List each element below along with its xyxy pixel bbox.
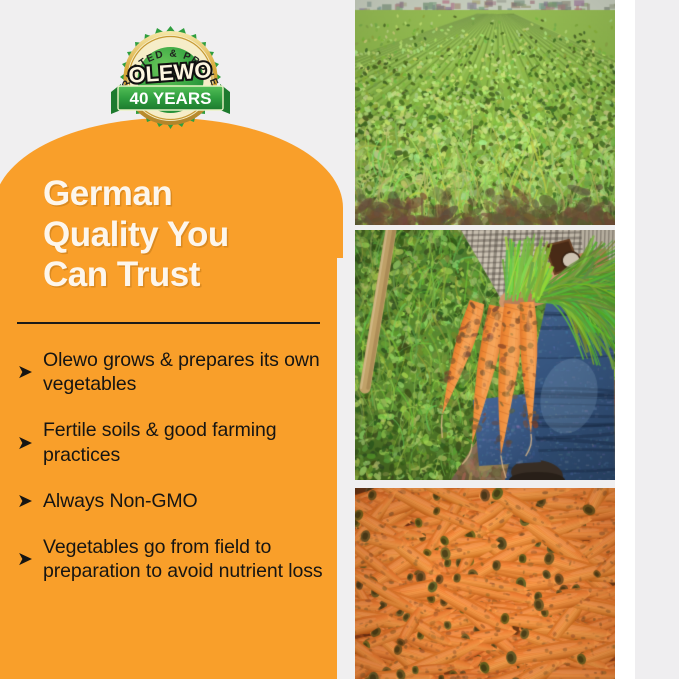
photo-column [355, 0, 615, 679]
section-divider [17, 322, 320, 324]
infographic-canvas: TRUSTED & PROVEN ★ ★ OLEWO 40 YEARS Germ… [0, 0, 679, 679]
olewo-trust-seal: TRUSTED & PROVEN ★ ★ OLEWO 40 YEARS [105, 22, 236, 142]
seal-icon: TRUSTED & PROVEN ★ ★ OLEWO 40 YEARS [105, 22, 236, 142]
list-item-label: Vegetables go from field to preparation … [43, 535, 332, 583]
right-gray-strip [635, 0, 679, 679]
white-gutter [615, 0, 635, 679]
headline: German Quality You Can Trust [43, 174, 333, 296]
photo-farmer-holding-carrots-canvas [355, 230, 615, 480]
seal-ribbon-text: 40 YEARS [130, 89, 212, 108]
photo-carrot-field-rows [355, 0, 615, 225]
list-item: ➤ Olewo grows & prepares its own vegetab… [17, 348, 332, 396]
list-item-label: Fertile soils & good farming practices [43, 418, 332, 466]
photo-carrot-field-rows-canvas [355, 0, 615, 225]
list-item-label: Always Non-GMO [43, 489, 332, 513]
photo-harvested-carrot-pile-canvas [355, 488, 615, 679]
arrow-bullet-icon: ➤ [17, 362, 43, 382]
photo-harvested-carrot-pile [355, 488, 615, 679]
list-item: ➤ Always Non-GMO [17, 489, 332, 513]
list-item-label: Olewo grows & prepares its own vegetable… [43, 348, 332, 396]
photo-farmer-holding-carrots [355, 230, 615, 480]
list-item: ➤ Fertile soils & good farming practices [17, 418, 332, 466]
headline-line-2: Quality You [43, 215, 333, 256]
arrow-bullet-icon: ➤ [17, 549, 43, 569]
arrow-bullet-icon: ➤ [17, 491, 43, 511]
headline-line-1: German [43, 174, 333, 215]
benefit-list: ➤ Olewo grows & prepares its own vegetab… [17, 348, 332, 583]
arrow-bullet-icon: ➤ [17, 433, 43, 453]
seal-ribbon: 40 YEARS [111, 84, 230, 114]
list-item: ➤ Vegetables go from field to preparatio… [17, 535, 332, 583]
headline-line-3: Can Trust [43, 255, 333, 296]
